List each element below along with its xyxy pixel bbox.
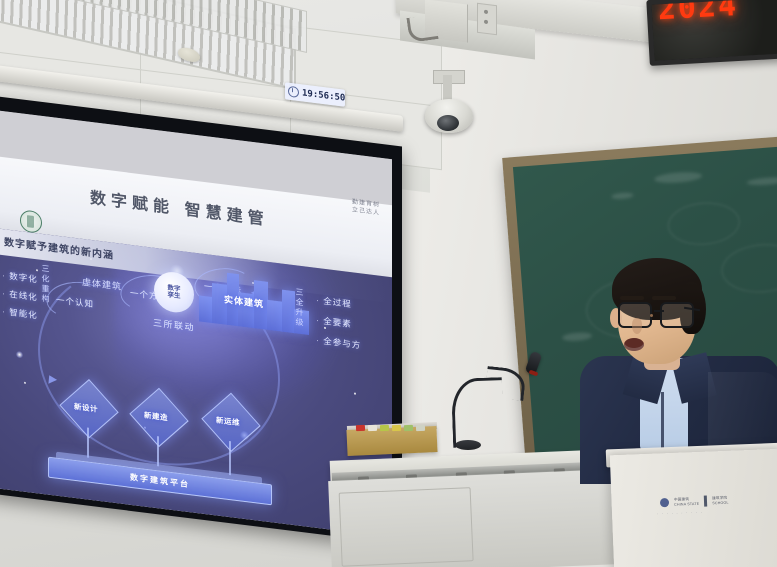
presenter-mole xyxy=(650,314,653,317)
led-display: 2024 xyxy=(646,0,777,66)
left-bullet-1: 数字化 xyxy=(2,269,38,285)
platform-label: 数字建筑平台 xyxy=(130,472,190,490)
left-bullet-3: 智能化 xyxy=(2,305,38,321)
chalk-stick-yellow[interactable] xyxy=(392,425,401,431)
slide-motto: 勤建育树 立己达人 xyxy=(352,198,380,217)
eyeglasses-lens-right xyxy=(660,302,694,328)
presenter-mouth xyxy=(624,338,644,351)
diamond-stem-2 xyxy=(157,436,159,466)
chalk-stick-grey[interactable] xyxy=(416,425,425,431)
beam-mount-plate xyxy=(477,3,497,35)
diamond-stem-1 xyxy=(87,427,89,457)
chalk-stick-green[interactable] xyxy=(380,425,389,431)
presenter-brow-left xyxy=(620,296,644,300)
podium-logo-text-1: 中国建筑CHINA STATE xyxy=(674,497,700,507)
camera-mount-arm xyxy=(443,75,452,101)
podium-logo-mark-icon xyxy=(704,496,707,507)
chalk-stick-lime[interactable] xyxy=(404,425,413,431)
right-vertical-label: 三全升级 xyxy=(294,287,305,328)
lecture-hall-scene: 2024 数字赋能 智慧建管 勤建育树 立己达人 xyxy=(0,0,777,567)
core-line-2: 孪生 xyxy=(168,291,181,300)
podium-logo-text-2: 建筑学院SCHOOL xyxy=(712,496,729,505)
chalk-stick-red[interactable] xyxy=(356,425,365,431)
camera-lens-icon xyxy=(437,115,459,131)
clock-time: 19:56:50 xyxy=(302,88,345,103)
diamond-stem-3 xyxy=(229,441,231,475)
left-vertical-label: 三化重构 xyxy=(40,264,51,305)
presenter-brow-right xyxy=(652,296,676,300)
podium-logo-circle-icon xyxy=(660,498,669,507)
clock-icon xyxy=(288,86,299,98)
chalk-stick-white[interactable] xyxy=(368,425,377,431)
left-bullet-2: 在线化 xyxy=(2,287,38,303)
eyeglasses-bridge xyxy=(654,310,664,312)
desk-drawer-outline xyxy=(339,487,474,566)
presenter-nose xyxy=(632,318,642,334)
lectern-podium xyxy=(610,449,777,567)
led-display-text: 2024 xyxy=(657,0,739,27)
